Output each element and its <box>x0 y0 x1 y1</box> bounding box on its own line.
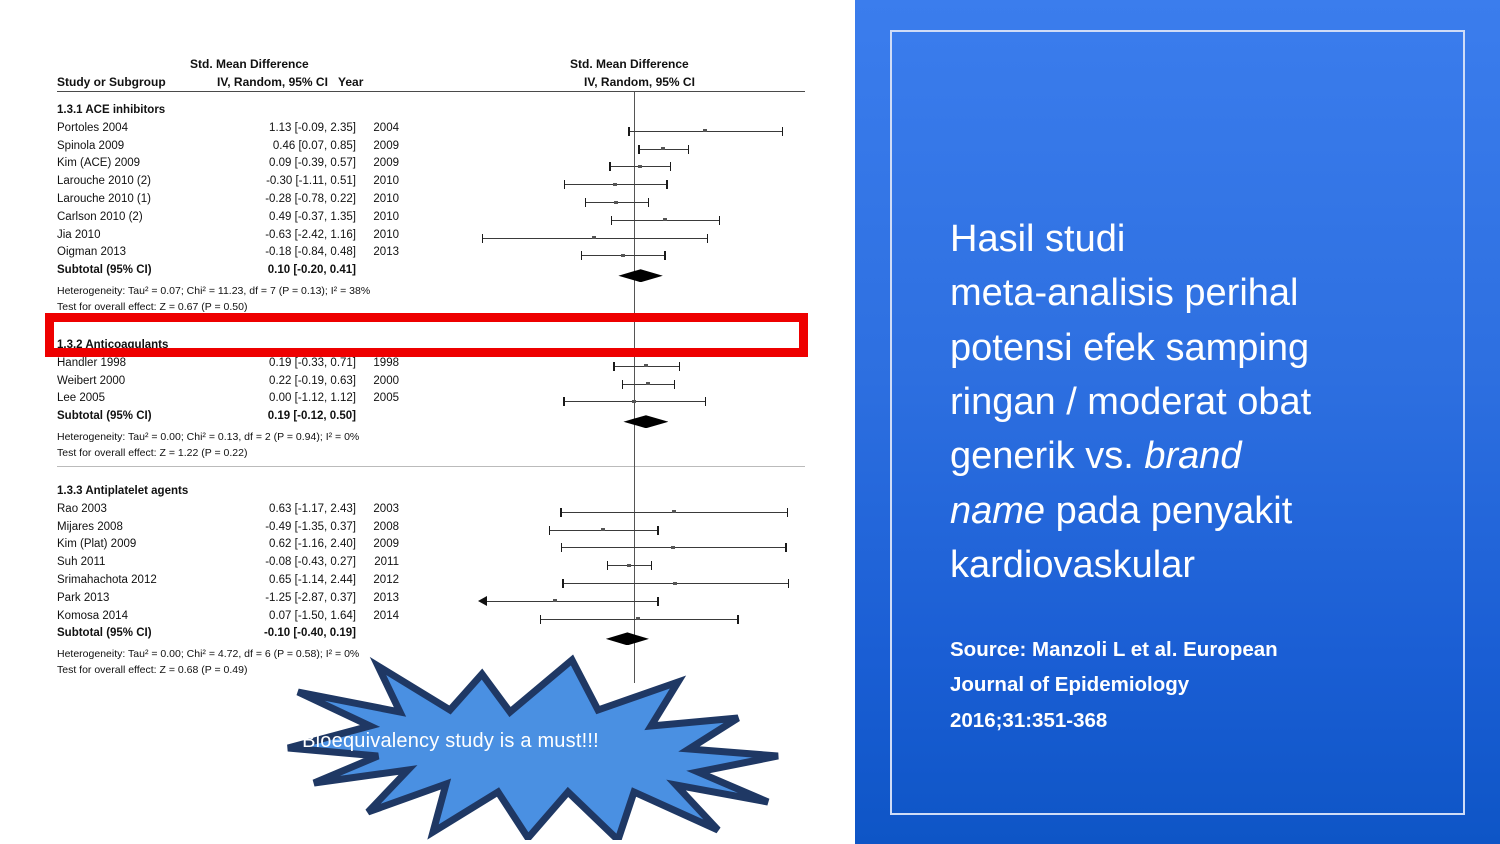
summary-diamond <box>606 632 649 645</box>
study-label: Srimahachota 2012 <box>57 575 157 587</box>
ci-end-cap <box>613 362 614 371</box>
slide-root: Std. Mean Difference Std. Mean Differenc… <box>0 0 1500 844</box>
study-year: 2003 <box>365 504 399 516</box>
effect-value: 0.46 [0.07, 0.85] <box>150 141 356 153</box>
study-year: 2012 <box>365 575 399 587</box>
source-line-1: Source: Manzoli L et al. European <box>950 638 1278 661</box>
point-estimate-marker <box>636 617 640 620</box>
panel-title: Hasil studi meta-analisis perihal potens… <box>950 212 1420 592</box>
title-line-3: potensi efek samping <box>950 327 1309 369</box>
title-line-2: meta-analisis perihal <box>950 272 1299 314</box>
ci-end-cap <box>607 561 608 570</box>
study-label: Jia 2010 <box>57 230 100 242</box>
study-year: 2004 <box>365 123 399 135</box>
right-column-title: Std. Mean Difference <box>570 58 689 70</box>
ci-end-cap <box>719 216 720 225</box>
effect-value: 0.62 [-1.16, 2.40] <box>150 539 356 551</box>
ci-end-cap <box>782 127 783 136</box>
effect-value: -0.08 [-0.43, 0.27] <box>150 557 356 569</box>
point-estimate-marker <box>646 382 650 385</box>
effect-value: -0.30 [-1.11, 0.51] <box>150 176 356 188</box>
ci-end-cap <box>560 508 561 517</box>
point-estimate-marker <box>621 254 625 257</box>
effect-value: 0.49 [-0.37, 1.35] <box>150 212 356 224</box>
red-highlight-box <box>45 313 808 357</box>
ci-end-cap <box>609 162 610 171</box>
group-heading-1.3.1: 1.3.1 ACE inhibitors <box>57 105 165 117</box>
header-study-or-subgroup: Study or Subgroup <box>57 76 166 88</box>
subtotal-value: 0.10 [-0.20, 0.41] <box>150 265 356 277</box>
ci-end-cap <box>564 180 565 189</box>
effect-value: -1.25 [-2.87, 0.37] <box>150 593 356 605</box>
ci-end-cap <box>707 234 708 243</box>
study-year: 2013 <box>365 593 399 605</box>
study-label: Mijares 2008 <box>57 522 123 534</box>
effect-value: 0.07 [-1.50, 1.64] <box>150 611 356 623</box>
study-year: 2000 <box>365 376 399 388</box>
starburst-callout: Bioequivalency study is a must!!! <box>78 652 823 840</box>
study-year: 2005 <box>365 393 399 405</box>
study-year: 2008 <box>365 522 399 534</box>
ci-end-cap <box>585 198 586 207</box>
study-label: Komosa 2014 <box>57 611 128 623</box>
subtotal-label: Subtotal (95% CI) <box>57 411 152 423</box>
starburst-label: Bioequivalency study is a must!!! <box>78 730 823 753</box>
study-label: Suh 2011 <box>57 557 105 569</box>
effect-value: -0.28 [-0.78, 0.22] <box>150 194 356 206</box>
ci-end-cap <box>664 251 665 260</box>
source-line-3: 2016;31:351-368 <box>950 709 1107 732</box>
effect-value: 0.63 [-1.17, 2.43] <box>150 504 356 516</box>
study-year: 2011 <box>365 557 399 569</box>
ci-end-cap <box>651 561 652 570</box>
ci-end-cap <box>540 615 541 624</box>
effect-value: 1.13 [-0.09, 2.35] <box>150 123 356 135</box>
ci-end-cap <box>666 180 667 189</box>
title-line-1: Hasil studi <box>950 218 1125 260</box>
ci-end-cap <box>638 145 639 154</box>
ci-end-cap <box>482 234 483 243</box>
study-label: Spinola 2009 <box>57 141 124 153</box>
study-label: Weibert 2000 <box>57 376 125 388</box>
heterogeneity-stats: Heterogeneity: Tau² = 0.07; Chi² = 11.23… <box>57 286 370 297</box>
study-label: Kim (ACE) 2009 <box>57 158 140 170</box>
study-year: 2009 <box>365 539 399 551</box>
source-citation: Source: Manzoli L et al. European Journa… <box>950 632 1430 738</box>
ci-end-cap <box>562 579 563 588</box>
title-panel: Hasil studi meta-analisis perihal potens… <box>855 0 1500 844</box>
study-label: Rao 2003 <box>57 504 107 516</box>
point-estimate-marker <box>673 582 677 585</box>
point-estimate-marker <box>644 364 648 367</box>
study-label: Larouche 2010 (2) <box>57 176 151 188</box>
ci-end-cap <box>679 362 680 371</box>
effect-value: 0.65 [-1.14, 2.44] <box>150 575 356 587</box>
point-estimate-marker <box>638 165 642 168</box>
ci-end-cap <box>561 543 562 552</box>
point-estimate-marker <box>632 400 636 403</box>
title-line-6: pada penyakit <box>1045 490 1292 532</box>
study-year: 2009 <box>365 141 399 153</box>
forest-plot-figure: Std. Mean Difference Std. Mean Differenc… <box>0 0 855 844</box>
study-label: Lee 2005 <box>57 393 105 405</box>
study-year: 2013 <box>365 247 399 259</box>
subtotal-value: 0.19 [-0.12, 0.50] <box>150 411 356 423</box>
ci-end-cap <box>648 198 649 207</box>
point-estimate-marker <box>601 528 605 531</box>
point-estimate-marker <box>613 183 617 186</box>
left-column-title: Std. Mean Difference <box>190 58 309 70</box>
overall-effect-test: Test for overall effect: Z = 0.67 (P = 0… <box>57 302 247 313</box>
ci-end-cap <box>688 145 689 154</box>
title-line-5: generik vs. <box>950 435 1144 477</box>
ci-end-cap <box>628 127 629 136</box>
title-emphasis-name: name <box>950 490 1045 532</box>
confidence-interval-line <box>486 601 657 602</box>
study-label: Handler 1998 <box>57 358 126 370</box>
source-line-2: Journal of Epidemiology <box>950 673 1189 696</box>
forest-plot-canvas <box>478 92 790 689</box>
header-year: Year <box>338 76 363 88</box>
ci-end-cap <box>622 380 623 389</box>
ci-end-cap <box>674 380 675 389</box>
study-year: 2010 <box>365 212 399 224</box>
header-effect-right: IV, Random, 95% CI <box>584 76 695 88</box>
study-year: 2010 <box>365 176 399 188</box>
subtotal-label: Subtotal (95% CI) <box>57 265 152 277</box>
point-estimate-marker <box>592 236 596 239</box>
ci-end-cap <box>787 508 788 517</box>
summary-diamond <box>623 415 668 428</box>
ci-end-cap <box>611 216 612 225</box>
point-estimate-marker <box>671 546 675 549</box>
subtotal-value: -0.10 [-0.40, 0.19] <box>150 628 356 640</box>
ci-end-cap <box>657 597 658 606</box>
header-effect-left: IV, Random, 95% CI <box>217 76 328 88</box>
point-estimate-marker <box>663 218 667 221</box>
study-year: 2010 <box>365 194 399 206</box>
point-estimate-marker <box>614 201 618 204</box>
subtotal-label: Subtotal (95% CI) <box>57 628 152 640</box>
ci-end-cap <box>785 543 786 552</box>
effect-value: -0.63 [-2.42, 1.16] <box>150 230 356 242</box>
ci-end-cap <box>788 579 789 588</box>
point-estimate-marker <box>553 599 557 602</box>
effect-value: -0.49 [-1.35, 0.37] <box>150 522 356 534</box>
overall-effect-test: Test for overall effect: Z = 1.22 (P = 0… <box>57 448 247 459</box>
ci-end-cap <box>563 397 564 406</box>
title-emphasis-brand: brand <box>1144 435 1241 477</box>
ci-end-cap <box>581 251 582 260</box>
ci-end-cap <box>737 615 738 624</box>
group-heading-1.3.3: 1.3.3 Antiplatelet agents <box>57 486 188 498</box>
study-label: Carlson 2010 (2) <box>57 212 143 224</box>
summary-diamond <box>618 269 662 282</box>
effect-value: 0.22 [-0.19, 0.63] <box>150 376 356 388</box>
point-estimate-marker <box>703 129 707 132</box>
heterogeneity-stats: Heterogeneity: Tau² = 0.00; Chi² = 0.13,… <box>57 432 359 443</box>
title-line-7: kardiovaskular <box>950 544 1195 586</box>
ci-end-cap <box>657 526 658 535</box>
point-estimate-marker <box>661 147 665 150</box>
ci-end-cap <box>670 162 671 171</box>
point-estimate-marker <box>672 510 676 513</box>
effect-value: 0.09 [-0.39, 0.57] <box>150 158 356 170</box>
study-label: Portoles 2004 <box>57 123 128 135</box>
study-year: 2010 <box>365 230 399 242</box>
point-estimate-marker <box>627 564 631 567</box>
study-label: Larouche 2010 (1) <box>57 194 151 206</box>
ci-end-cap <box>549 526 550 535</box>
study-label: Park 2013 <box>57 593 109 605</box>
effect-value: 0.00 [-1.12, 1.12] <box>150 393 356 405</box>
ci-clip-arrow-left <box>478 596 487 606</box>
study-year: 1998 <box>365 358 399 370</box>
study-year: 2009 <box>365 158 399 170</box>
study-label: Kim (Plat) 2009 <box>57 539 136 551</box>
title-line-4: ringan / moderat obat <box>950 381 1311 423</box>
study-year: 2014 <box>365 611 399 623</box>
study-label: Oigman 2013 <box>57 247 126 259</box>
null-effect-line <box>634 92 635 683</box>
effect-value: 0.19 [-0.33, 0.71] <box>150 358 356 370</box>
effect-value: -0.18 [-0.84, 0.48] <box>150 247 356 259</box>
ci-end-cap <box>705 397 706 406</box>
